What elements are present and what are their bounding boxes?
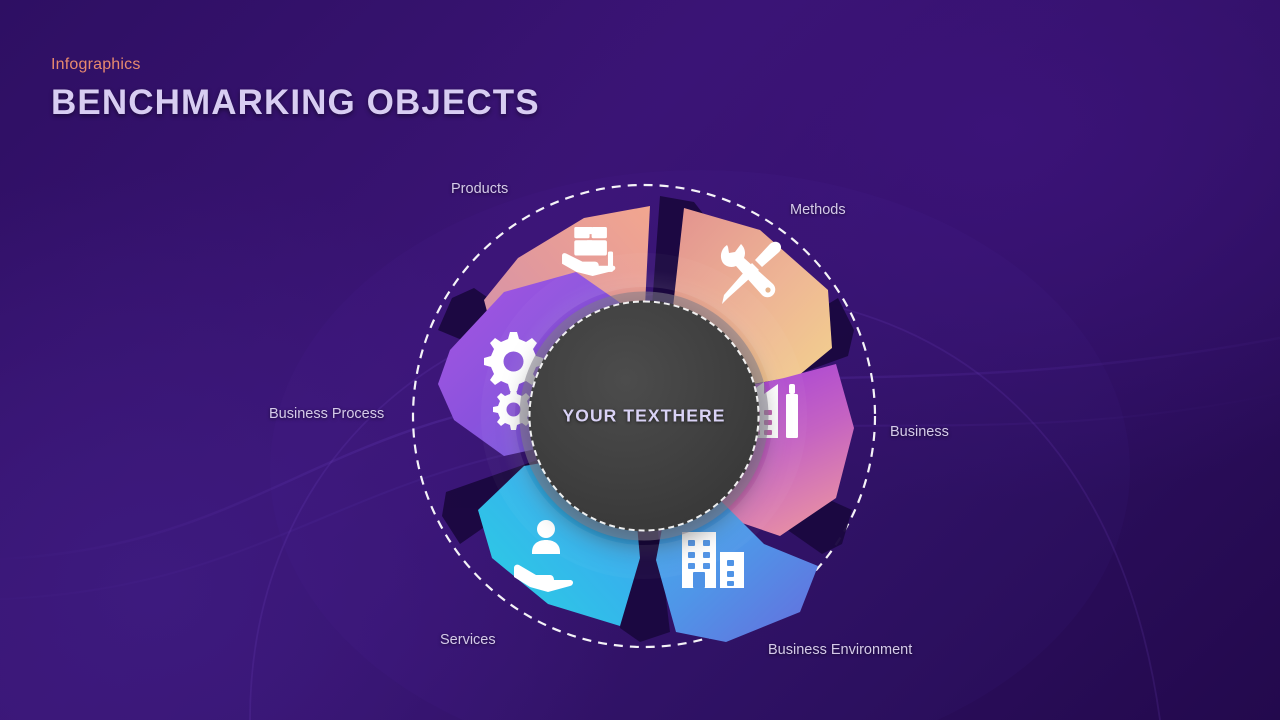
segment-label-business: Business	[890, 424, 949, 440]
eyebrow-label: Infographics	[51, 56, 540, 74]
header: Infographics BENCHMARKING OBJECTS	[51, 56, 540, 123]
segment-label-methods: Methods	[790, 202, 846, 218]
benchmarking-wheel: YOUR TEXTHERE	[408, 180, 880, 652]
center-hub-text: YOUR TEXTHERE	[562, 406, 725, 427]
page-title: BENCHMARKING OBJECTS	[51, 83, 540, 123]
center-hub[interactable]: YOUR TEXTHERE	[529, 301, 760, 532]
segment-label-business-process: Business Process	[269, 406, 384, 422]
segment-label-products: Products	[451, 181, 508, 197]
segment-label-business-environment: Business Environment	[768, 642, 912, 658]
segment-label-services: Services	[440, 632, 496, 648]
